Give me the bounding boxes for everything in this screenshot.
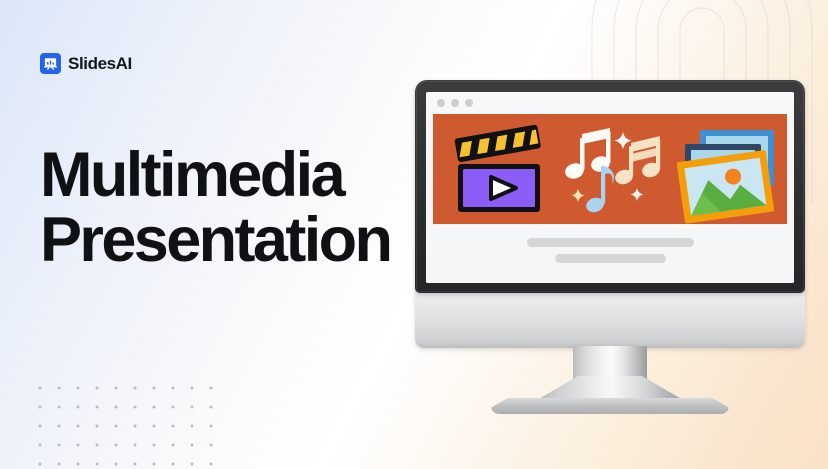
window-dot-1-icon[interactable]: [437, 99, 445, 107]
monitor-stand-base: [491, 398, 729, 414]
multimedia-banner-svg: [433, 114, 787, 224]
window-dot-3-icon[interactable]: [465, 99, 473, 107]
slide-root: SlidesAI Multimedia Presentation: [0, 0, 828, 469]
music-notes-icon: [563, 128, 661, 214]
page-title-line-1: Multimedia: [40, 143, 440, 208]
monitor-bezel: [415, 80, 805, 293]
placeholder-bar-narrow: [555, 254, 666, 263]
window-chrome-dots: [426, 92, 794, 114]
clapperboard-icon: [454, 124, 541, 212]
photo-frame-front: [677, 150, 775, 224]
page-title-line-2: Presentation: [40, 208, 440, 273]
placeholder-bar-wide: [527, 238, 694, 247]
content-placeholders: [426, 224, 794, 283]
music-note-blue: [584, 166, 614, 214]
photo-frames-icon: [677, 130, 775, 224]
dot-grid-decoration: [38, 386, 238, 469]
monitor-screen: [426, 92, 794, 283]
brand-name: SlidesAI: [68, 55, 132, 72]
monitor-chin: [415, 288, 805, 348]
monitor-illustration: [415, 80, 805, 412]
presentation-chart-icon-svg: [43, 56, 58, 71]
window-dot-2-icon[interactable]: [451, 99, 459, 107]
presentation-chart-icon: [40, 53, 61, 74]
page-title: Multimedia Presentation: [40, 143, 440, 273]
dot-grid-svg: [38, 386, 238, 469]
brand-logo[interactable]: SlidesAI: [40, 53, 132, 74]
multimedia-banner: [433, 114, 787, 224]
